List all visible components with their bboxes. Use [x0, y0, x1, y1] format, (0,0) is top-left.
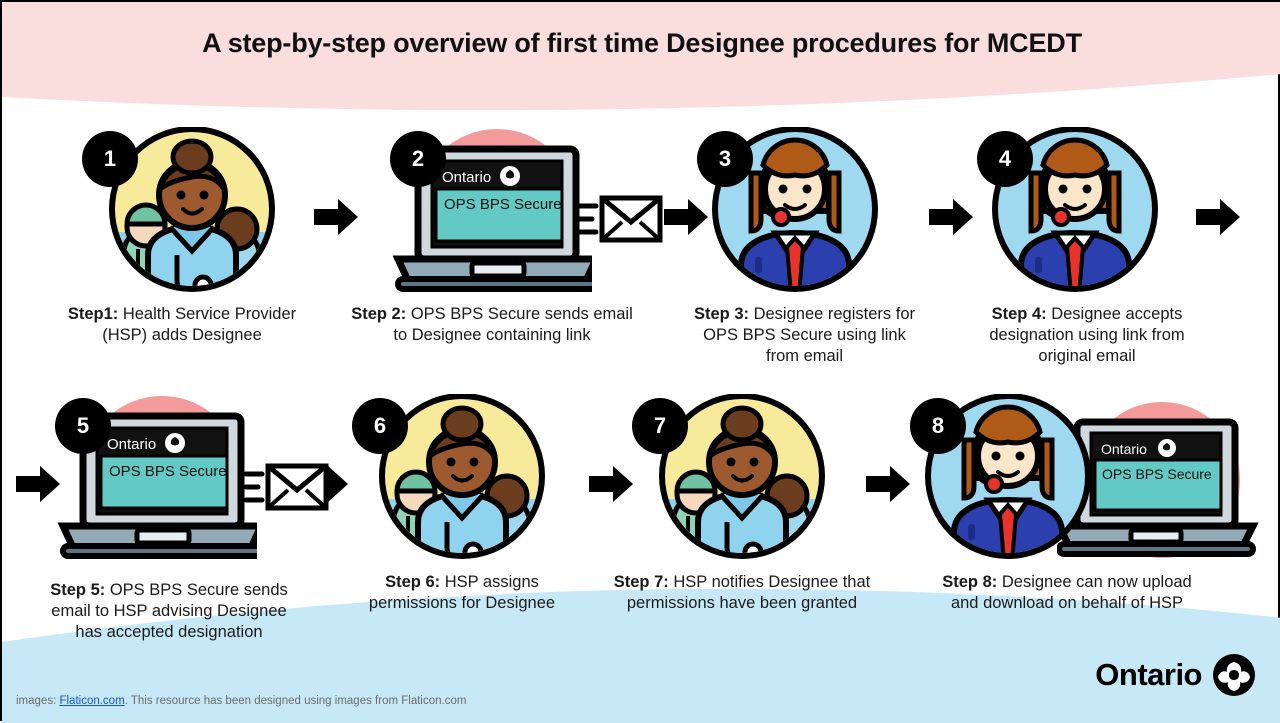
- page-title: A step-by-step overview of first time De…: [2, 28, 1280, 59]
- laptop-brand-text: Ontario: [442, 169, 491, 186]
- arrow-6-to-7: [587, 464, 635, 504]
- badge-number: 4: [999, 146, 1011, 172]
- step-6-label: Step 6:: [385, 573, 440, 591]
- top-pink-band: [2, 2, 1280, 132]
- step-6-text-1: HSP assigns: [440, 573, 539, 591]
- step-5: Ontario OPS BPS Secure 5: [57, 394, 257, 564]
- laptop-brand-text: Ontario: [1101, 441, 1147, 457]
- step-6-caption: Step 6: HSP assigns permissions for Desi…: [342, 572, 582, 614]
- ontario-wordmark: Ontario: [1095, 657, 1202, 693]
- step-8-text-2: and download on behalf of HSP: [907, 593, 1227, 614]
- badge-number: 3: [719, 146, 731, 172]
- ontario-logo: Ontario: [1095, 653, 1256, 697]
- step-1-label: Step1:: [68, 305, 118, 323]
- step-4-text-3: original email: [947, 346, 1227, 367]
- step-3-text-3: from email: [657, 346, 952, 367]
- step-7-text-2: permissions have been granted: [592, 593, 892, 614]
- step-1-text-2: (HSP) adds Designee: [37, 325, 327, 346]
- step-5-label: Step 5:: [50, 581, 105, 599]
- step-3-label: Step 3:: [694, 305, 749, 323]
- step-8-text-1: Designee can now upload: [997, 573, 1191, 591]
- step-4-text-1: Designee accepts: [1047, 305, 1183, 323]
- step-4-caption: Step 4: Designee accepts designation usi…: [947, 304, 1227, 367]
- title-text: A step-by-step overview of first time De…: [2, 28, 1280, 59]
- step-6: 6: [352, 394, 552, 564]
- step-badge: 8: [910, 398, 966, 454]
- badge-number: 5: [77, 413, 89, 439]
- step-5-text-2: email to HSP advising Designee: [24, 601, 314, 622]
- trillium-icon: [1212, 653, 1256, 697]
- badge-number: 1: [104, 146, 116, 172]
- infographic-canvas: A step-by-step overview of first time De…: [2, 2, 1278, 719]
- step-badge: 4: [977, 131, 1033, 187]
- laptop-brand-text: Ontario: [107, 436, 156, 453]
- step-4-text-2: designation using link from: [947, 325, 1227, 346]
- step-badge: 3: [697, 131, 753, 187]
- laptop-screen-text: OPS BPS Secure: [444, 196, 562, 213]
- step-badge: 2: [390, 131, 446, 187]
- badge-number: 6: [374, 413, 386, 439]
- arrow-7-to-8: [864, 464, 912, 504]
- arrow-4-to-5: [1194, 197, 1242, 237]
- badge-number: 8: [932, 413, 944, 439]
- step-3: 3: [697, 127, 887, 297]
- step-2-text-2: to Designee containing link: [342, 325, 642, 346]
- step-7-text-1: HSP notifies Designee that: [669, 573, 870, 591]
- step-badge: 1: [82, 131, 138, 187]
- step-3-text-2: OPS BPS Secure using link: [657, 325, 952, 346]
- badge-number: 7: [654, 413, 666, 439]
- step-1-text-1: Health Service Provider: [118, 305, 296, 323]
- step-badge: 7: [632, 398, 688, 454]
- arrow-2-to-3: [662, 197, 710, 237]
- email-envelope-icon: [244, 460, 330, 516]
- step-badge: 6: [352, 398, 408, 454]
- arrow-into-5: [14, 464, 62, 504]
- step-4: 4: [977, 127, 1167, 297]
- step-5-text-3: has accepted designation: [24, 622, 314, 643]
- step-8-person: 8: [910, 394, 1100, 564]
- email-envelope-icon: [578, 192, 664, 248]
- step-2-label: Step 2:: [351, 305, 406, 323]
- arrow-1-to-2: [312, 197, 360, 237]
- step-3-text-1: Designee registers for: [749, 305, 915, 323]
- step-1: 1: [82, 127, 282, 297]
- laptop-screen-text: OPS BPS Secure: [1102, 466, 1212, 482]
- step-1-caption: Step1: Health Service Provider (HSP) add…: [37, 304, 327, 346]
- step-5-text-1: OPS BPS Secure sends: [105, 581, 288, 599]
- credit-prefix: images:: [16, 695, 59, 707]
- step-7: 7: [632, 394, 832, 564]
- step-8-label: Step 8:: [942, 573, 997, 591]
- laptop-screen-text: OPS BPS Secure: [109, 463, 227, 480]
- step-7-label: Step 7:: [614, 573, 669, 591]
- step-5-caption: Step 5: OPS BPS Secure sends email to HS…: [24, 580, 314, 643]
- step-3-caption: Step 3: Designee registers for OPS BPS S…: [657, 304, 952, 367]
- step-2-text-1: OPS BPS Secure sends email: [406, 305, 633, 323]
- step-4-label: Step 4:: [992, 305, 1047, 323]
- step-8-caption: Step 8: Designee can now upload and down…: [907, 572, 1227, 614]
- arrow-3-to-4: [927, 197, 975, 237]
- image-credit: images: Flaticon.com. This resource has …: [16, 695, 466, 707]
- step-2-caption: Step 2: OPS BPS Secure sends email to De…: [342, 304, 642, 346]
- step-7-caption: Step 7: HSP notifies Designee that permi…: [592, 572, 892, 614]
- badge-number: 2: [412, 146, 424, 172]
- step-6-text-2: permissions for Designee: [342, 593, 582, 614]
- step-badge: 5: [55, 398, 111, 454]
- flaticon-link[interactable]: Flaticon.com: [59, 695, 124, 707]
- credit-suffix: . This resource has been designed using …: [125, 695, 467, 707]
- step-2: Ontario OPS BPS Secure 2: [392, 127, 592, 297]
